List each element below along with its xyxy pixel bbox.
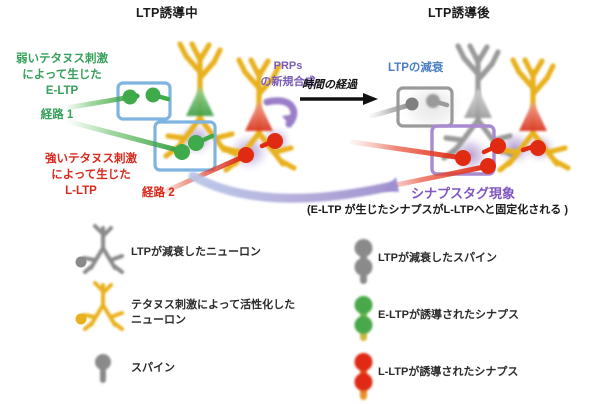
time-arrow-label: 時間の経過 bbox=[302, 79, 357, 92]
legend-left-0-label: LTPが減衰したニューロン bbox=[131, 245, 261, 260]
synapse-green bbox=[188, 135, 204, 151]
prp-arrow bbox=[267, 101, 296, 127]
pathway1-line3: E-LTP bbox=[2, 84, 122, 98]
soma-late-ltp bbox=[519, 101, 547, 131]
axon-captured-1 bbox=[352, 142, 463, 158]
soma-late-ltp bbox=[245, 101, 273, 131]
legend-right-0-label: LTPが減衰したスパイン bbox=[378, 251, 497, 266]
soma-decayed bbox=[464, 88, 492, 118]
synapse-gray bbox=[406, 98, 419, 111]
pathway2-line3: L-LTP bbox=[6, 184, 156, 198]
gray-spine-icon bbox=[95, 354, 111, 383]
gray-neuron-spine bbox=[76, 257, 87, 268]
pathway2-line2: によって生じた bbox=[16, 168, 166, 182]
synapse-red bbox=[238, 147, 254, 163]
pathway1-line1: 弱いテタヌス刺激 bbox=[2, 52, 122, 66]
synapse-green bbox=[123, 90, 138, 105]
synapse-red bbox=[267, 133, 283, 149]
time-arrow bbox=[300, 93, 378, 105]
pathway1-label: 経路 1 bbox=[2, 108, 112, 122]
pathway2-line1: 強いテタヌス刺激 bbox=[16, 152, 166, 166]
prps-line1: PRPs bbox=[258, 60, 318, 73]
pathway1-line2: によって生じた bbox=[2, 68, 122, 82]
legend-left-1-label: テタヌス刺激によって活性化した ニューロン bbox=[131, 298, 295, 328]
yellow-neuron-icon bbox=[84, 283, 122, 329]
decay-label: LTPの減衰 bbox=[388, 61, 443, 75]
synapse-red bbox=[455, 150, 471, 166]
legend-right-1-label: E-LTPが誘導されたシナプス bbox=[378, 308, 519, 323]
figure-canvas: LTP誘導中 LTP誘導後 弱いテタヌス刺激 によって生じた E-LTP 経路 … bbox=[0, 0, 600, 404]
gray-synapse-icon bbox=[355, 239, 373, 284]
panel-title-right: LTP誘導後 bbox=[428, 6, 490, 21]
tagging-label: シナプスタグ現象 bbox=[411, 186, 515, 202]
gray-neuron-icon bbox=[84, 226, 122, 272]
synapse-red bbox=[490, 138, 506, 154]
legend-right-2-label: L-LTPが誘導されたシナプス bbox=[378, 365, 518, 380]
legend-left-2-label: スパイン bbox=[131, 361, 175, 376]
red-synapse-icon bbox=[355, 353, 373, 400]
tagging-sublabel: (E-LTP が生じたシナプスがL-LTPへと固定化される ) bbox=[307, 204, 568, 217]
green-synapse-icon bbox=[355, 296, 373, 341]
synapse-red bbox=[530, 140, 546, 156]
synapse-red bbox=[480, 158, 496, 174]
pathway2-label: 経路 2 bbox=[142, 186, 202, 200]
tagging-swoosh-arrow bbox=[193, 176, 399, 198]
synapse-green bbox=[174, 144, 190, 160]
yellow-neuron-spine bbox=[76, 314, 87, 325]
soma-early-ltp bbox=[186, 86, 214, 116]
panel-title-left: LTP誘導中 bbox=[136, 6, 198, 21]
